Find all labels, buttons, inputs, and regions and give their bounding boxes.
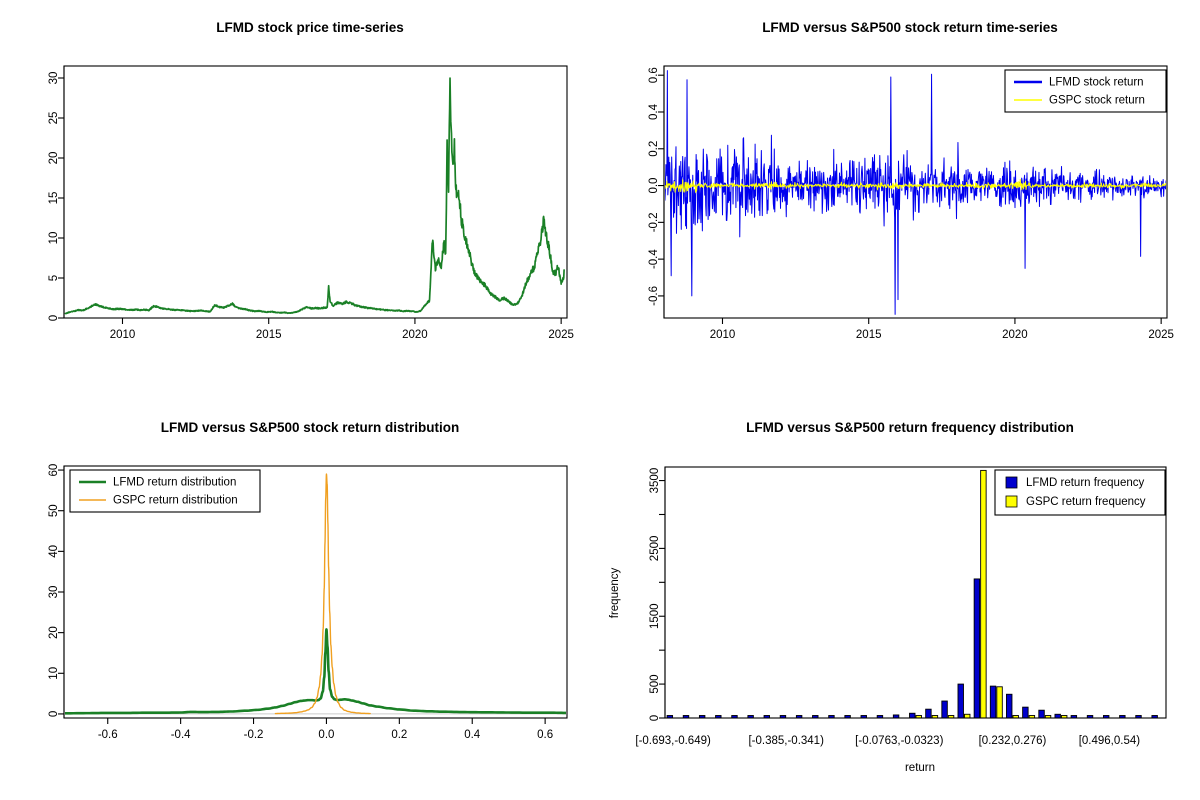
x-tick-label: 2015 (856, 329, 882, 341)
y-axis-title: frequency (609, 568, 621, 619)
panel-density-legend[interactable]: LFMD return distribution GSPC return dis… (70, 470, 260, 512)
panel-density-y-axis: 0102030405060 (48, 464, 64, 718)
panel-lfmd-price: LFMD stock price time-series 05101520253… (0, 0, 600, 400)
x-tick-label: 2025 (1148, 329, 1174, 341)
y-tick-label: 0.0 (648, 178, 660, 194)
x-tick-label: 2010 (710, 329, 736, 341)
x-tick-label: 2010 (110, 329, 136, 341)
data-line (275, 474, 370, 713)
x-tick-label: [0.496,0.54) (1079, 735, 1141, 747)
histogram-bar-gspc (964, 714, 969, 718)
panel-returns-title: LFMD versus S&P500 stock return time-ser… (762, 20, 1058, 35)
panel-return-timeseries: LFMD versus S&P500 stock return time-ser… (600, 0, 1200, 400)
y-tick-label: 0 (48, 315, 60, 321)
y-tick-label: 0.6 (648, 67, 660, 83)
y-tick-label: 30 (48, 586, 60, 599)
panel-histogram-legend[interactable]: LFMD return frequency GSPC return freque… (995, 470, 1165, 515)
histogram-bar-lfmd (990, 686, 995, 718)
y-tick-label: 10 (48, 232, 60, 245)
histogram-bar-lfmd (1023, 707, 1028, 718)
y-tick-label: 25 (48, 112, 60, 125)
y-tick-label: 20 (48, 626, 60, 639)
x-tick-label: [-0.693,-0.649) (635, 735, 711, 747)
panel-histogram-svg: LFMD versus S&P500 return frequency dist… (600, 400, 1200, 800)
panel-price-title: LFMD stock price time-series (216, 20, 404, 35)
legend-label-gspc-return: GSPC stock return (1049, 95, 1145, 107)
panel-density-svg: LFMD versus S&P500 stock return distribu… (0, 400, 600, 800)
x-tick-label: -0.4 (171, 729, 191, 741)
y-tick-label: -0.6 (648, 286, 660, 306)
x-tick-label: 0.4 (464, 729, 481, 741)
x-tick-label: -0.6 (98, 729, 118, 741)
y-tick-label: 10 (48, 667, 60, 680)
panel-histogram-title: LFMD versus S&P500 return frequency dist… (746, 420, 1074, 435)
x-axis-title: return (905, 762, 935, 774)
y-tick-label: 1500 (649, 603, 661, 629)
data-line (65, 78, 564, 314)
x-tick-label: 0.2 (391, 729, 407, 741)
histogram-bar-lfmd (958, 684, 963, 718)
panel-returns-legend[interactable]: LFMD stock return GSPC stock return (1005, 70, 1166, 112)
x-tick-label: -0.2 (244, 729, 264, 741)
panel-returns-x-axis: 2010201520202025 (664, 318, 1174, 341)
x-tick-label: [-0.385,-0.341) (748, 735, 824, 747)
y-tick-label: -0.2 (648, 212, 660, 232)
x-tick-label: [-0.0763,-0.0323) (855, 735, 943, 747)
histogram-bar-lfmd (926, 709, 931, 718)
legend-label-lfmd-density: LFMD return distribution (113, 477, 236, 489)
y-tick-label: 500 (649, 674, 661, 693)
y-tick-label: 50 (48, 504, 60, 517)
legend-label-lfmd-frequency: LFMD return frequency (1026, 477, 1144, 489)
panel-histogram-y-axis: 0500150025003500 (649, 467, 665, 721)
panel-density-x-axis: -0.6-0.4-0.20.00.20.40.6 (64, 718, 567, 741)
figure-grid: LFMD stock price time-series 05101520253… (0, 0, 1200, 800)
y-tick-label: 2500 (649, 536, 661, 562)
x-tick-label: [0.232,0.276) (979, 735, 1047, 747)
panel-returns-y-axis: -0.6-0.4-0.20.00.20.40.6 (648, 66, 664, 318)
x-tick-label: 0.0 (318, 729, 334, 741)
legend-swatch-gspc-frequency (1006, 496, 1017, 507)
panel-price-svg: LFMD stock price time-series 05101520253… (0, 0, 600, 400)
y-tick-label: 30 (48, 72, 60, 85)
y-tick-label: 0.2 (648, 141, 660, 157)
panel-price-y-axis: 051015202530 (48, 66, 64, 321)
legend-label-gspc-frequency: GSPC return frequency (1026, 496, 1146, 508)
histogram-bar-gspc (981, 470, 986, 718)
panel-density-title: LFMD versus S&P500 stock return distribu… (161, 420, 460, 435)
x-tick-label: 2015 (256, 329, 282, 341)
legend-label-lfmd-return: LFMD stock return (1049, 77, 1144, 89)
histogram-bar-lfmd (1055, 714, 1060, 718)
y-tick-label: 15 (48, 192, 60, 205)
panel-returns-svg: LFMD versus S&P500 stock return time-ser… (600, 0, 1200, 400)
panel-return-distribution: LFMD versus S&P500 stock return distribu… (0, 400, 600, 800)
x-tick-label: 2025 (548, 329, 574, 341)
price-series-group (65, 78, 564, 314)
y-tick-label: 0.4 (648, 103, 660, 120)
histogram-bar-lfmd (942, 701, 947, 718)
histogram-bar-lfmd (910, 713, 915, 718)
x-tick-label: 0.6 (537, 729, 553, 741)
panel-return-frequency: LFMD versus S&P500 return frequency dist… (600, 400, 1200, 800)
y-tick-label: 3500 (649, 468, 661, 494)
histogram-bar-lfmd (974, 579, 979, 718)
y-tick-label: 40 (48, 545, 60, 558)
y-tick-label: 0 (48, 711, 60, 717)
legend-label-gspc-density: GSPC return distribution (113, 495, 238, 507)
plot-box (64, 66, 567, 318)
legend-swatch-lfmd-frequency (1006, 477, 1017, 488)
histogram-bar-lfmd (1039, 710, 1044, 718)
histogram-bar-gspc (997, 687, 1002, 718)
histogram-bar-lfmd (1006, 694, 1011, 718)
y-tick-label: 60 (48, 464, 60, 477)
x-tick-label: 2020 (402, 329, 428, 341)
panel-price-x-axis: 2010201520202025 (64, 318, 574, 341)
y-tick-label: 0 (649, 715, 661, 721)
y-tick-label: 20 (48, 152, 60, 165)
x-tick-label: 2020 (1002, 329, 1028, 341)
y-tick-label: -0.4 (648, 249, 660, 269)
y-tick-label: 5 (48, 275, 60, 281)
